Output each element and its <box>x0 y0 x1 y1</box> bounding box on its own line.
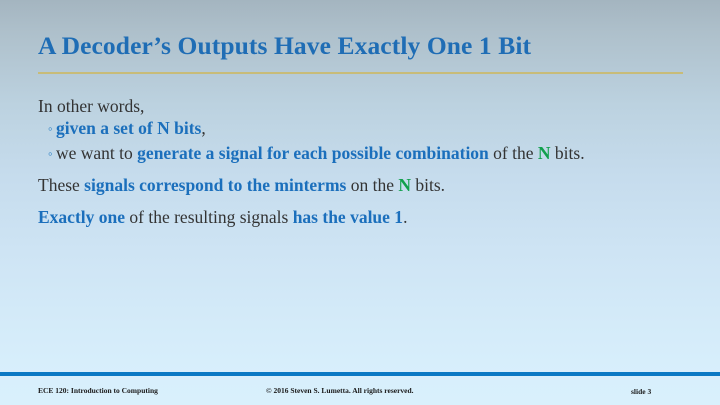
paragraph-minterms: These signals correspond to the minterms… <box>38 175 678 196</box>
footer-slide-number: slide 3 <box>631 387 651 397</box>
text-run-green: N <box>398 175 411 195</box>
text-run-green: N <box>538 143 551 163</box>
footer-divider <box>0 372 720 376</box>
list-item: ◦ we want to generate a signal for each … <box>38 143 678 164</box>
footer-course-label: ECE 120: Introduction to Computing <box>38 386 158 396</box>
lead-line: In other words, <box>38 96 678 117</box>
list-item-text: given a set of N bits, <box>56 118 206 138</box>
bullet-circle-icon: ◦ <box>48 143 53 164</box>
list-item: ◦ given a set of N bits, <box>38 118 678 139</box>
slide-canvas: A Decoder’s Outputs Have Exactly One 1 B… <box>0 0 720 405</box>
text-run-plain: on the <box>346 175 398 195</box>
title-block: A Decoder’s Outputs Have Exactly One 1 B… <box>38 32 686 60</box>
paragraph-exactly-one: Exactly one of the resulting signals has… <box>38 207 678 228</box>
text-run-plain: we want to <box>56 143 137 163</box>
paragraph-text: These signals correspond to the minterms… <box>38 175 445 195</box>
text-run-blue: signals correspond to the minterms <box>84 175 346 195</box>
text-run-plain: bits. <box>551 143 585 163</box>
text-run-blue: generate a signal for each possible comb… <box>137 143 489 163</box>
title-underline-rule <box>38 72 683 74</box>
text-run-blue: given a set of N bits <box>56 118 201 138</box>
text-run-plain: of the <box>489 143 538 163</box>
text-run-plain: bits. <box>411 175 445 195</box>
footer-copyright-label: © 2016 Steven S. Lumetta. All rights res… <box>266 386 414 396</box>
list-item-text: we want to generate a signal for each po… <box>56 143 585 163</box>
text-run-plain: These <box>38 175 84 195</box>
text-run-plain: . <box>403 207 407 227</box>
footer: ECE 120: Introduction to Computing © 201… <box>0 386 720 400</box>
bullet-list: ◦ given a set of N bits, ◦ we want to ge… <box>38 118 678 164</box>
bullet-circle-icon: ◦ <box>48 118 53 139</box>
paragraph-text: Exactly one of the resulting signals has… <box>38 207 407 227</box>
text-run-blue: has the value 1 <box>293 207 403 227</box>
text-run-plain: , <box>201 118 205 138</box>
text-run-plain: of the resulting signals <box>125 207 293 227</box>
page-title: A Decoder’s Outputs Have Exactly One 1 B… <box>38 32 686 60</box>
slide-body: In other words, ◦ given a set of N bits,… <box>38 96 678 228</box>
text-run-blue: Exactly one <box>38 207 125 227</box>
